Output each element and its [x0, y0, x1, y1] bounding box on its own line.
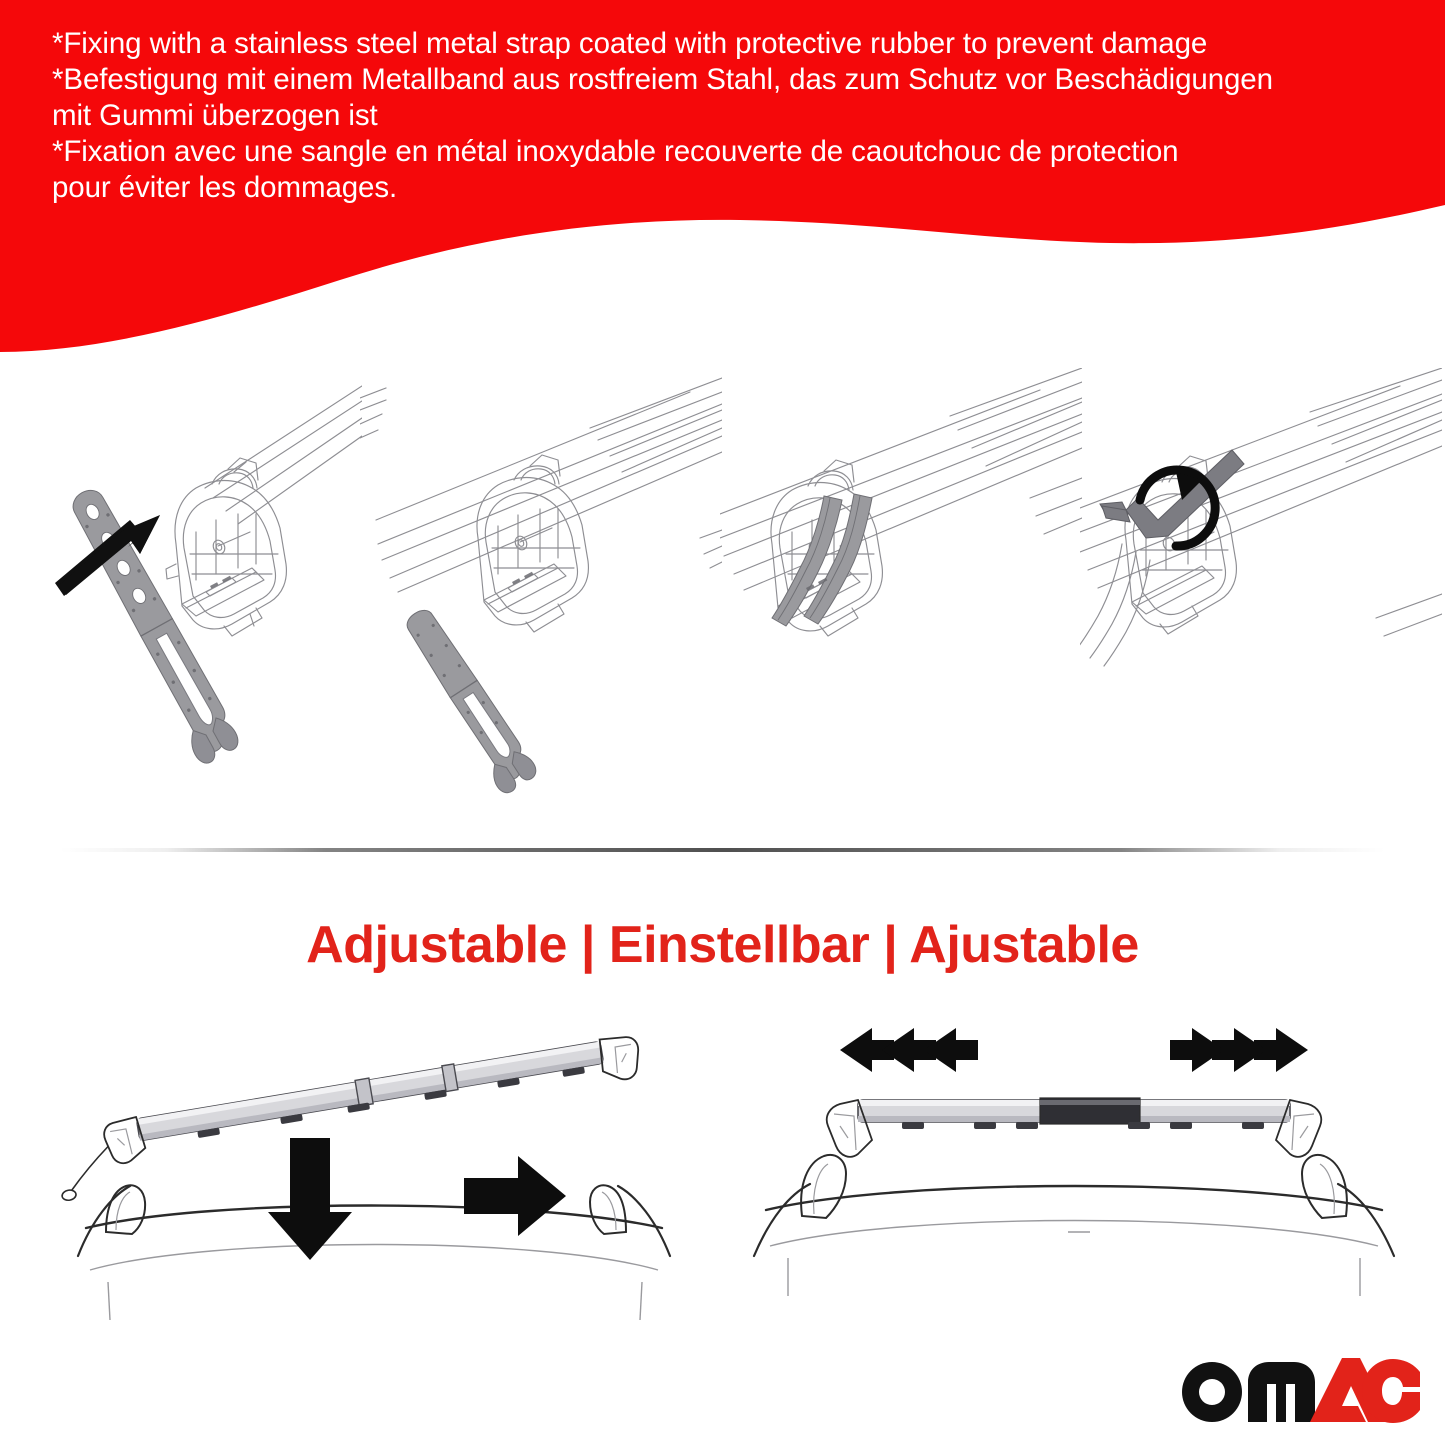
diagram-place-crossbar	[30, 1020, 730, 1320]
diagram-extend-crossbar	[730, 1020, 1430, 1320]
right-arrow-icon	[464, 1156, 566, 1236]
place-crossbar-illustration	[30, 1020, 730, 1320]
down-arrow-icon	[268, 1138, 352, 1260]
step-1-illustration	[0, 368, 362, 838]
banner-text: *Fixing with a stainless steel metal str…	[52, 26, 1412, 206]
step-2-position-foot	[360, 368, 722, 838]
step-2-illustration	[360, 368, 722, 838]
extend-crossbar-illustration	[730, 1020, 1430, 1320]
step-4-illustration	[1080, 368, 1442, 838]
step-4-tighten-bolt	[1080, 368, 1442, 838]
step-3-illustration	[720, 368, 1082, 838]
triple-right-arrow-icon	[1170, 1028, 1308, 1072]
header-banner: *Fixing with a stainless steel metal str…	[0, 0, 1445, 370]
triple-left-arrow-icon	[840, 1028, 978, 1072]
bottom-diagrams	[0, 1020, 1445, 1320]
section-divider	[60, 848, 1385, 852]
page-root: *Fixing with a stainless steel metal str…	[0, 0, 1445, 1445]
omac-logo-mark	[1170, 1348, 1420, 1428]
step-1-insert-strap	[0, 368, 362, 838]
omac-logo	[1170, 1348, 1420, 1428]
step-3-wrap-strap	[720, 368, 1082, 838]
adjustable-heading: Adjustable | Einstellbar | Ajustable	[0, 915, 1445, 975]
installation-steps	[0, 368, 1445, 838]
